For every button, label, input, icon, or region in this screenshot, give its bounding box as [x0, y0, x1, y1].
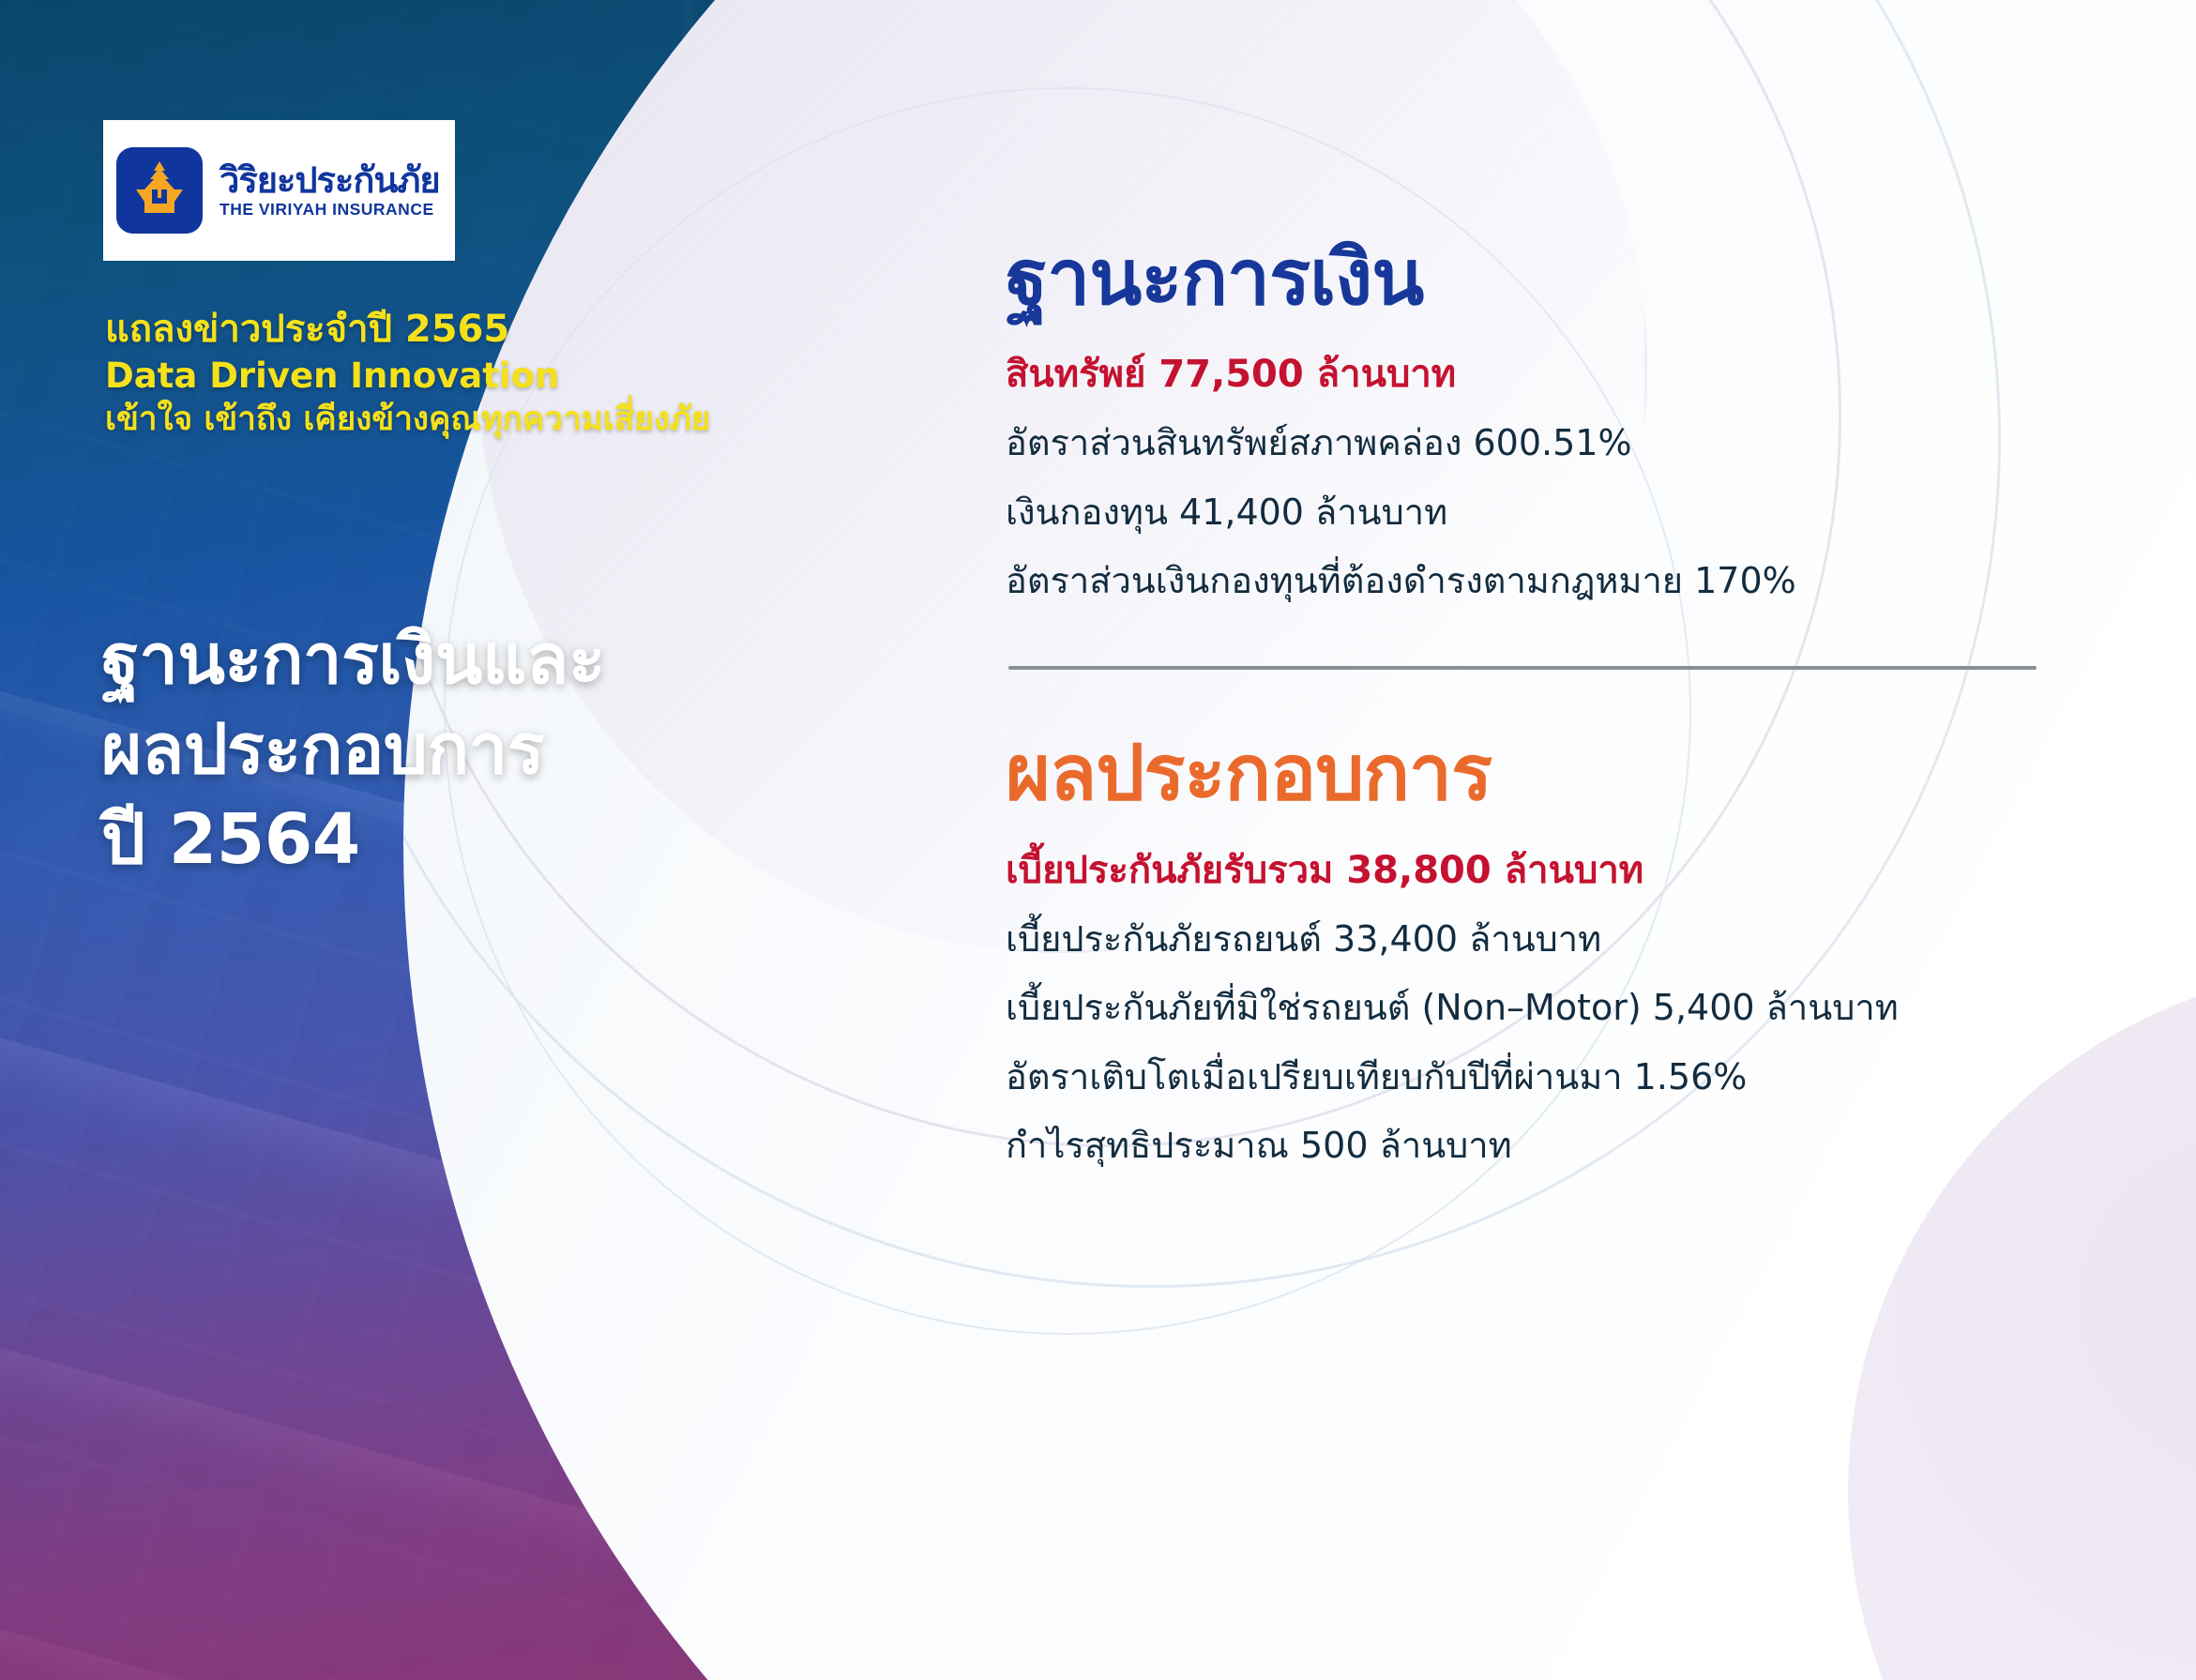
financial-position-heading: ฐานะการเงิน — [1006, 235, 2113, 323]
page-title: ฐานะการเงินและ ผลประกอบการ ปี 2564 — [101, 614, 749, 885]
page-title-line-1: ฐานะการเงินและ — [101, 614, 749, 704]
section-financial-position: ฐานะการเงิน สินทรัพย์ 77,500 ล้านบาท อัต… — [1006, 235, 2113, 604]
page-title-line-2: ผลประกอบการ — [101, 704, 749, 795]
event-kicker: แถลงข่าวประจำปี 2565 Data Driven Innovat… — [105, 305, 762, 442]
content-column: ฐานะการเงิน สินทรัพย์ 77,500 ล้านบาท อัต… — [1006, 235, 2113, 1169]
kicker-line-1: แถลงข่าวประจำปี 2565 — [105, 305, 762, 354]
logo-wordmark: วิริยะประกันภัย THE VIRIYAH INSURANCE — [220, 162, 440, 219]
operating-results-line: กำไรสุทธิประมาณ 500 ล้านบาท — [1006, 1123, 2113, 1169]
page-title-line-3: ปี 2564 — [101, 795, 749, 885]
section-divider — [1008, 666, 2037, 670]
viriyah-crown-logo-icon — [116, 147, 203, 234]
operating-results-heading: ผลประกอบการ — [1006, 730, 2113, 818]
operating-results-line: เบี้ยประกันภัยที่มิใช่รถยนต์ (Non–Motor)… — [1006, 985, 2113, 1031]
financial-position-line: อัตราส่วนเงินกองทุนที่ต้องดำรงตามกฎหมาย … — [1006, 558, 2113, 604]
company-logo: วิริยะประกันภัย THE VIRIYAH INSURANCE — [103, 120, 455, 261]
kicker-line-3: เข้าใจ เข้าถึง เคียงข้างคุณทุกความเสี่ยง… — [105, 399, 762, 442]
section-operating-results: ผลประกอบการ เบี้ยประกันภัยรับรวม 38,800 … — [1006, 730, 2113, 1169]
financial-position-line: อัตราส่วนสินทรัพย์สภาพคล่อง 600.51% — [1006, 420, 2113, 466]
logo-english-name: THE VIRIYAH INSURANCE — [220, 202, 440, 219]
logo-thai-name: วิริยะประกันภัย — [220, 162, 440, 198]
financial-position-lead: สินทรัพย์ 77,500 ล้านบาท — [1006, 351, 2113, 398]
financial-position-line: เงินกองทุน 41,400 ล้านบาท — [1006, 490, 2113, 536]
operating-results-line: เบี้ยประกันภัยรถยนต์ 33,400 ล้านบาท — [1006, 916, 2113, 962]
infographic-slide: วิริยะประกันภัย THE VIRIYAH INSURANCE แถ… — [0, 0, 2196, 1680]
operating-results-line: อัตราเติบโตเมื่อเปรียบเทียบกับปีที่ผ่านม… — [1006, 1054, 2113, 1100]
kicker-line-2: Data Driven Innovation — [105, 354, 762, 399]
operating-results-lead: เบี้ยประกันภัยรับรวม 38,800 ล้านบาท — [1006, 847, 2113, 894]
